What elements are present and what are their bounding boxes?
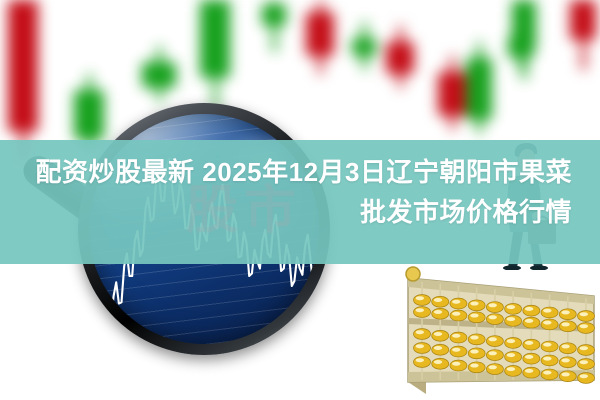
abacus-bead [541, 355, 558, 366]
abacus-bead [468, 300, 485, 311]
abacus-bead [505, 315, 522, 326]
abacus-bead [432, 344, 449, 355]
abacus-bead [578, 323, 595, 334]
abacus-bead [468, 362, 485, 373]
abacus-bead [414, 343, 431, 354]
abacus-bead [559, 309, 576, 320]
abacus-bead [523, 317, 540, 328]
abacus-bead [541, 369, 558, 380]
abacus-bead [578, 345, 595, 356]
abacus-bead [523, 367, 540, 378]
abacus-bead [541, 319, 558, 330]
page-title-line-1: 配资炒股最新 2025年12月3日辽宁朝阳市果菜 [28, 152, 572, 192]
abacus-bead [559, 321, 576, 332]
abacus-bead [505, 351, 522, 362]
abacus-bead [450, 310, 467, 321]
abacus-bead [486, 302, 503, 313]
abacus-bead [486, 336, 503, 347]
abacus-knob [406, 267, 420, 281]
abacus-bead [578, 359, 595, 370]
abacus-bead [541, 307, 558, 318]
abacus-bead [414, 295, 431, 306]
candle-body [306, 12, 334, 56]
candle-body [352, 38, 376, 56]
abacus-bead [486, 364, 503, 375]
abacus-bead [432, 358, 449, 369]
abacus-bead [450, 332, 467, 343]
candle-body [570, 0, 596, 40]
candle-body [8, 0, 38, 132]
banner-image: 股市 配资炒股最新 2025年12月3日辽宁朝阳市果菜 批发市场价格行情 [0, 0, 600, 400]
abacus-bead [559, 357, 576, 368]
candle-body [142, 62, 176, 88]
candle-body [438, 72, 466, 116]
abacus-bead [414, 329, 431, 340]
candle-body [466, 58, 492, 120]
abacus-bead [432, 296, 449, 307]
candle-body [200, 0, 230, 78]
page-title: 配资炒股最新 2025年12月3日辽宁朝阳市果菜 批发市场价格行情 [0, 152, 600, 232]
abacus-bead [578, 373, 595, 384]
candle-body [386, 42, 414, 74]
abacus-bead [468, 348, 485, 359]
abacus-bead [450, 346, 467, 357]
abacus-bead [414, 357, 431, 368]
page-title-line-2: 批发市场价格行情 [28, 192, 572, 232]
abacus-bead [450, 298, 467, 309]
abacus-bead [505, 337, 522, 348]
abacus-bead [432, 330, 449, 341]
abacus-bead [450, 360, 467, 371]
abacus-bead [541, 341, 558, 352]
abacus-bead [468, 312, 485, 323]
candle-body [512, 0, 536, 50]
abacus-bead [505, 365, 522, 376]
abacus-bead [414, 307, 431, 318]
abacus-bead [559, 343, 576, 354]
abacus-bead [486, 314, 503, 325]
abacus-bead [432, 308, 449, 319]
abacus [396, 262, 600, 400]
abacus-bead [523, 339, 540, 350]
abacus-bead [559, 371, 576, 382]
abacus-bead [523, 353, 540, 364]
abacus-bead [505, 303, 522, 314]
abacus-bead [486, 350, 503, 361]
candle-body [262, 4, 286, 26]
abacus-bead [523, 305, 540, 316]
abacus-bead [468, 334, 485, 345]
abacus-bead [578, 311, 595, 322]
